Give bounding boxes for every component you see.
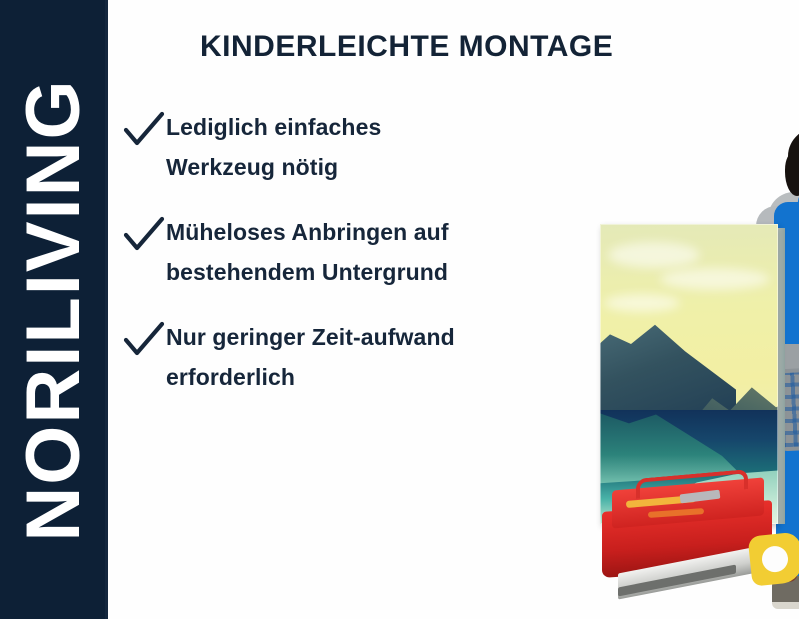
- brand-wordmark: NORILIVING: [16, 78, 92, 541]
- check-icon: [122, 215, 166, 255]
- list-item-label: Müheloses Anbringen auf bestehendem Unte…: [166, 213, 496, 292]
- infographic-canvas: NORILIVING KINDERLEICHTE MONTAGE Ledigli…: [0, 0, 799, 619]
- check-icon: [122, 110, 166, 150]
- hand-saw: [618, 536, 799, 600]
- list-item: Müheloses Anbringen auf bestehendem Unte…: [122, 213, 522, 292]
- list-item: Nur geringer Zeit-aufwand erforderlich: [122, 318, 522, 397]
- content-column: KINDERLEICHTE MONTAGE Lediglich einfache…: [108, 0, 799, 619]
- saw-handle: [748, 531, 799, 586]
- product-photo: [588, 106, 799, 619]
- list-item-label: Lediglich einfaches Werkzeug nötig: [166, 108, 496, 187]
- list-item-label: Nur geringer Zeit-aufwand erforderlich: [166, 318, 496, 397]
- hair: [788, 126, 799, 186]
- benefit-list: Lediglich einfaches Werkzeug nötig Mühel…: [122, 108, 522, 423]
- brand-wordmark-wrap: NORILIVING: [16, 78, 92, 541]
- list-item: Lediglich einfaches Werkzeug nötig: [122, 108, 522, 187]
- check-icon: [122, 320, 166, 360]
- page-title: KINDERLEICHTE MONTAGE: [200, 30, 613, 64]
- brand-sidebar: NORILIVING: [0, 0, 108, 619]
